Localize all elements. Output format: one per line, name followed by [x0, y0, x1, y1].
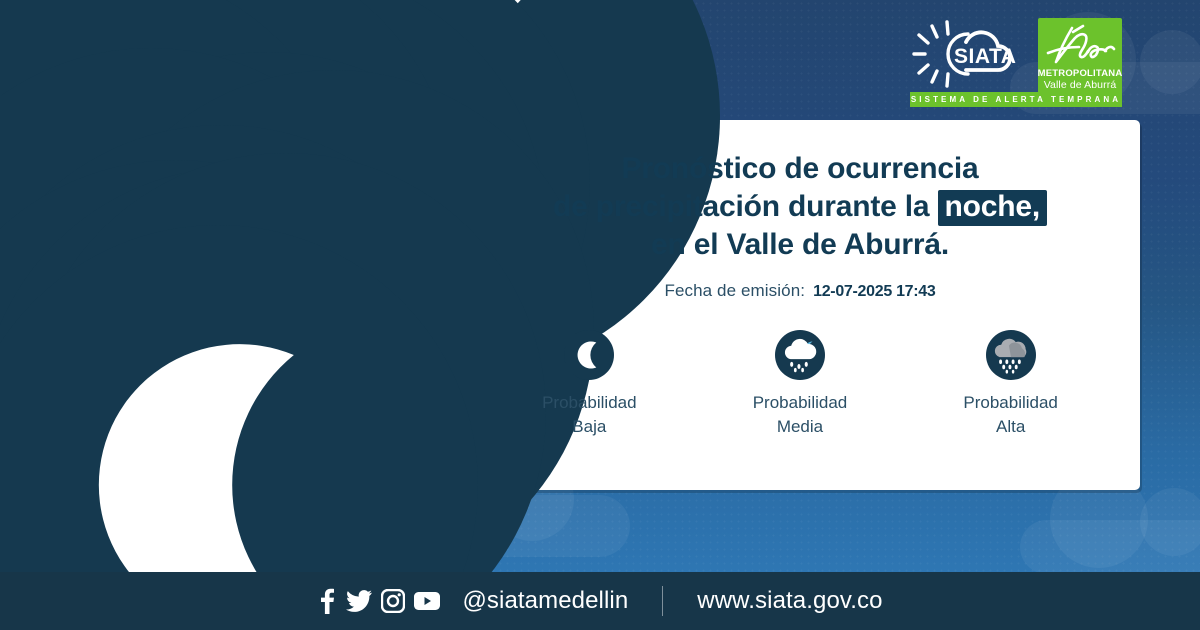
facebook-icon[interactable]: [317, 588, 337, 614]
legend-label-line1: Probabilidad: [753, 391, 848, 415]
probability-legend: Probabilidad Baja Probabilidad Media: [484, 330, 1116, 439]
title-line-2: de precipitación durante la noche,: [480, 188, 1120, 226]
title-line-2-text: de precipitación durante la: [553, 190, 929, 223]
area-logo-line2: Valle de Aburrá: [1044, 79, 1117, 92]
area-script-icon: [1042, 20, 1118, 68]
legend-item-alta: Probabilidad Alta: [923, 330, 1098, 439]
title-line-1: Pronóstico de ocurrencia: [480, 150, 1120, 188]
footer-bar: @siatamedellin www.siata.gov.co: [0, 572, 1200, 630]
background-cloud-icon: [1020, 520, 1200, 574]
forecast-panel: Pronóstico de ocurrencia de precipitació…: [480, 150, 1120, 301]
area-logo-line1: METROPOLITANA: [1038, 68, 1123, 79]
website-url[interactable]: www.siata.gov.co: [697, 587, 882, 615]
instagram-icon[interactable]: [381, 589, 405, 613]
youtube-icon[interactable]: [414, 591, 440, 611]
legend-label-line2: Baja: [542, 415, 637, 439]
social-handle[interactable]: @siatamedellin: [462, 587, 628, 615]
area-metropolitana-logo: METROPOLITANA Valle de Aburrá: [1038, 18, 1122, 96]
legend-label-media: Probabilidad Media: [753, 391, 848, 439]
siata-logo-text: SIATA: [954, 45, 1016, 68]
legend-label-alta: Probabilidad Alta: [963, 391, 1058, 439]
page-title: Pronóstico de ocurrencia de precipitació…: [480, 150, 1120, 264]
legend-item-baja: Probabilidad Baja: [502, 330, 677, 439]
cloud-heavy-rain-icon: [986, 330, 1036, 380]
tagline-text: SISTEMA DE ALERTA TEMPRANA: [911, 95, 1121, 104]
social-icons: [317, 588, 440, 614]
title-line-3: en el Valle de Aburrá.: [480, 226, 1120, 264]
legend-label-line2: Alta: [963, 415, 1058, 439]
legend-label-baja: Probabilidad Baja: [542, 391, 637, 439]
valle-de-aburra-map: N: [56, 55, 576, 575]
legend-label-line1: Probabilidad: [542, 391, 637, 415]
twitter-icon[interactable]: [346, 590, 372, 612]
legend-item-media: Probabilidad Media: [712, 330, 887, 439]
logo-group: SIATA METROPOLITANA Valle de Aburrá: [906, 18, 1122, 96]
moon-icon: [564, 330, 614, 380]
footer-divider: [662, 586, 663, 616]
moon-icon: [0, 225, 478, 630]
emission-label: Fecha de emisión:: [664, 281, 805, 301]
cloud-rain-moon-icon: [775, 330, 825, 380]
emission-value: 12-07-2025 17:43: [813, 283, 935, 301]
title-highlight-noche: noche,: [938, 190, 1047, 226]
legend-label-line2: Media: [753, 415, 848, 439]
legend-label-line1: Probabilidad: [963, 391, 1058, 415]
siata-logo-icon: SIATA: [906, 18, 1030, 90]
infographic-canvas: SIATA METROPOLITANA Valle de Aburrá SIST…: [0, 0, 1200, 630]
tagline-bar: SISTEMA DE ALERTA TEMPRANA: [910, 92, 1122, 107]
emission-date: Fecha de emisión: 12-07-2025 17:43: [480, 281, 1120, 301]
map-marker-caldas[interactable]: [0, 225, 478, 630]
